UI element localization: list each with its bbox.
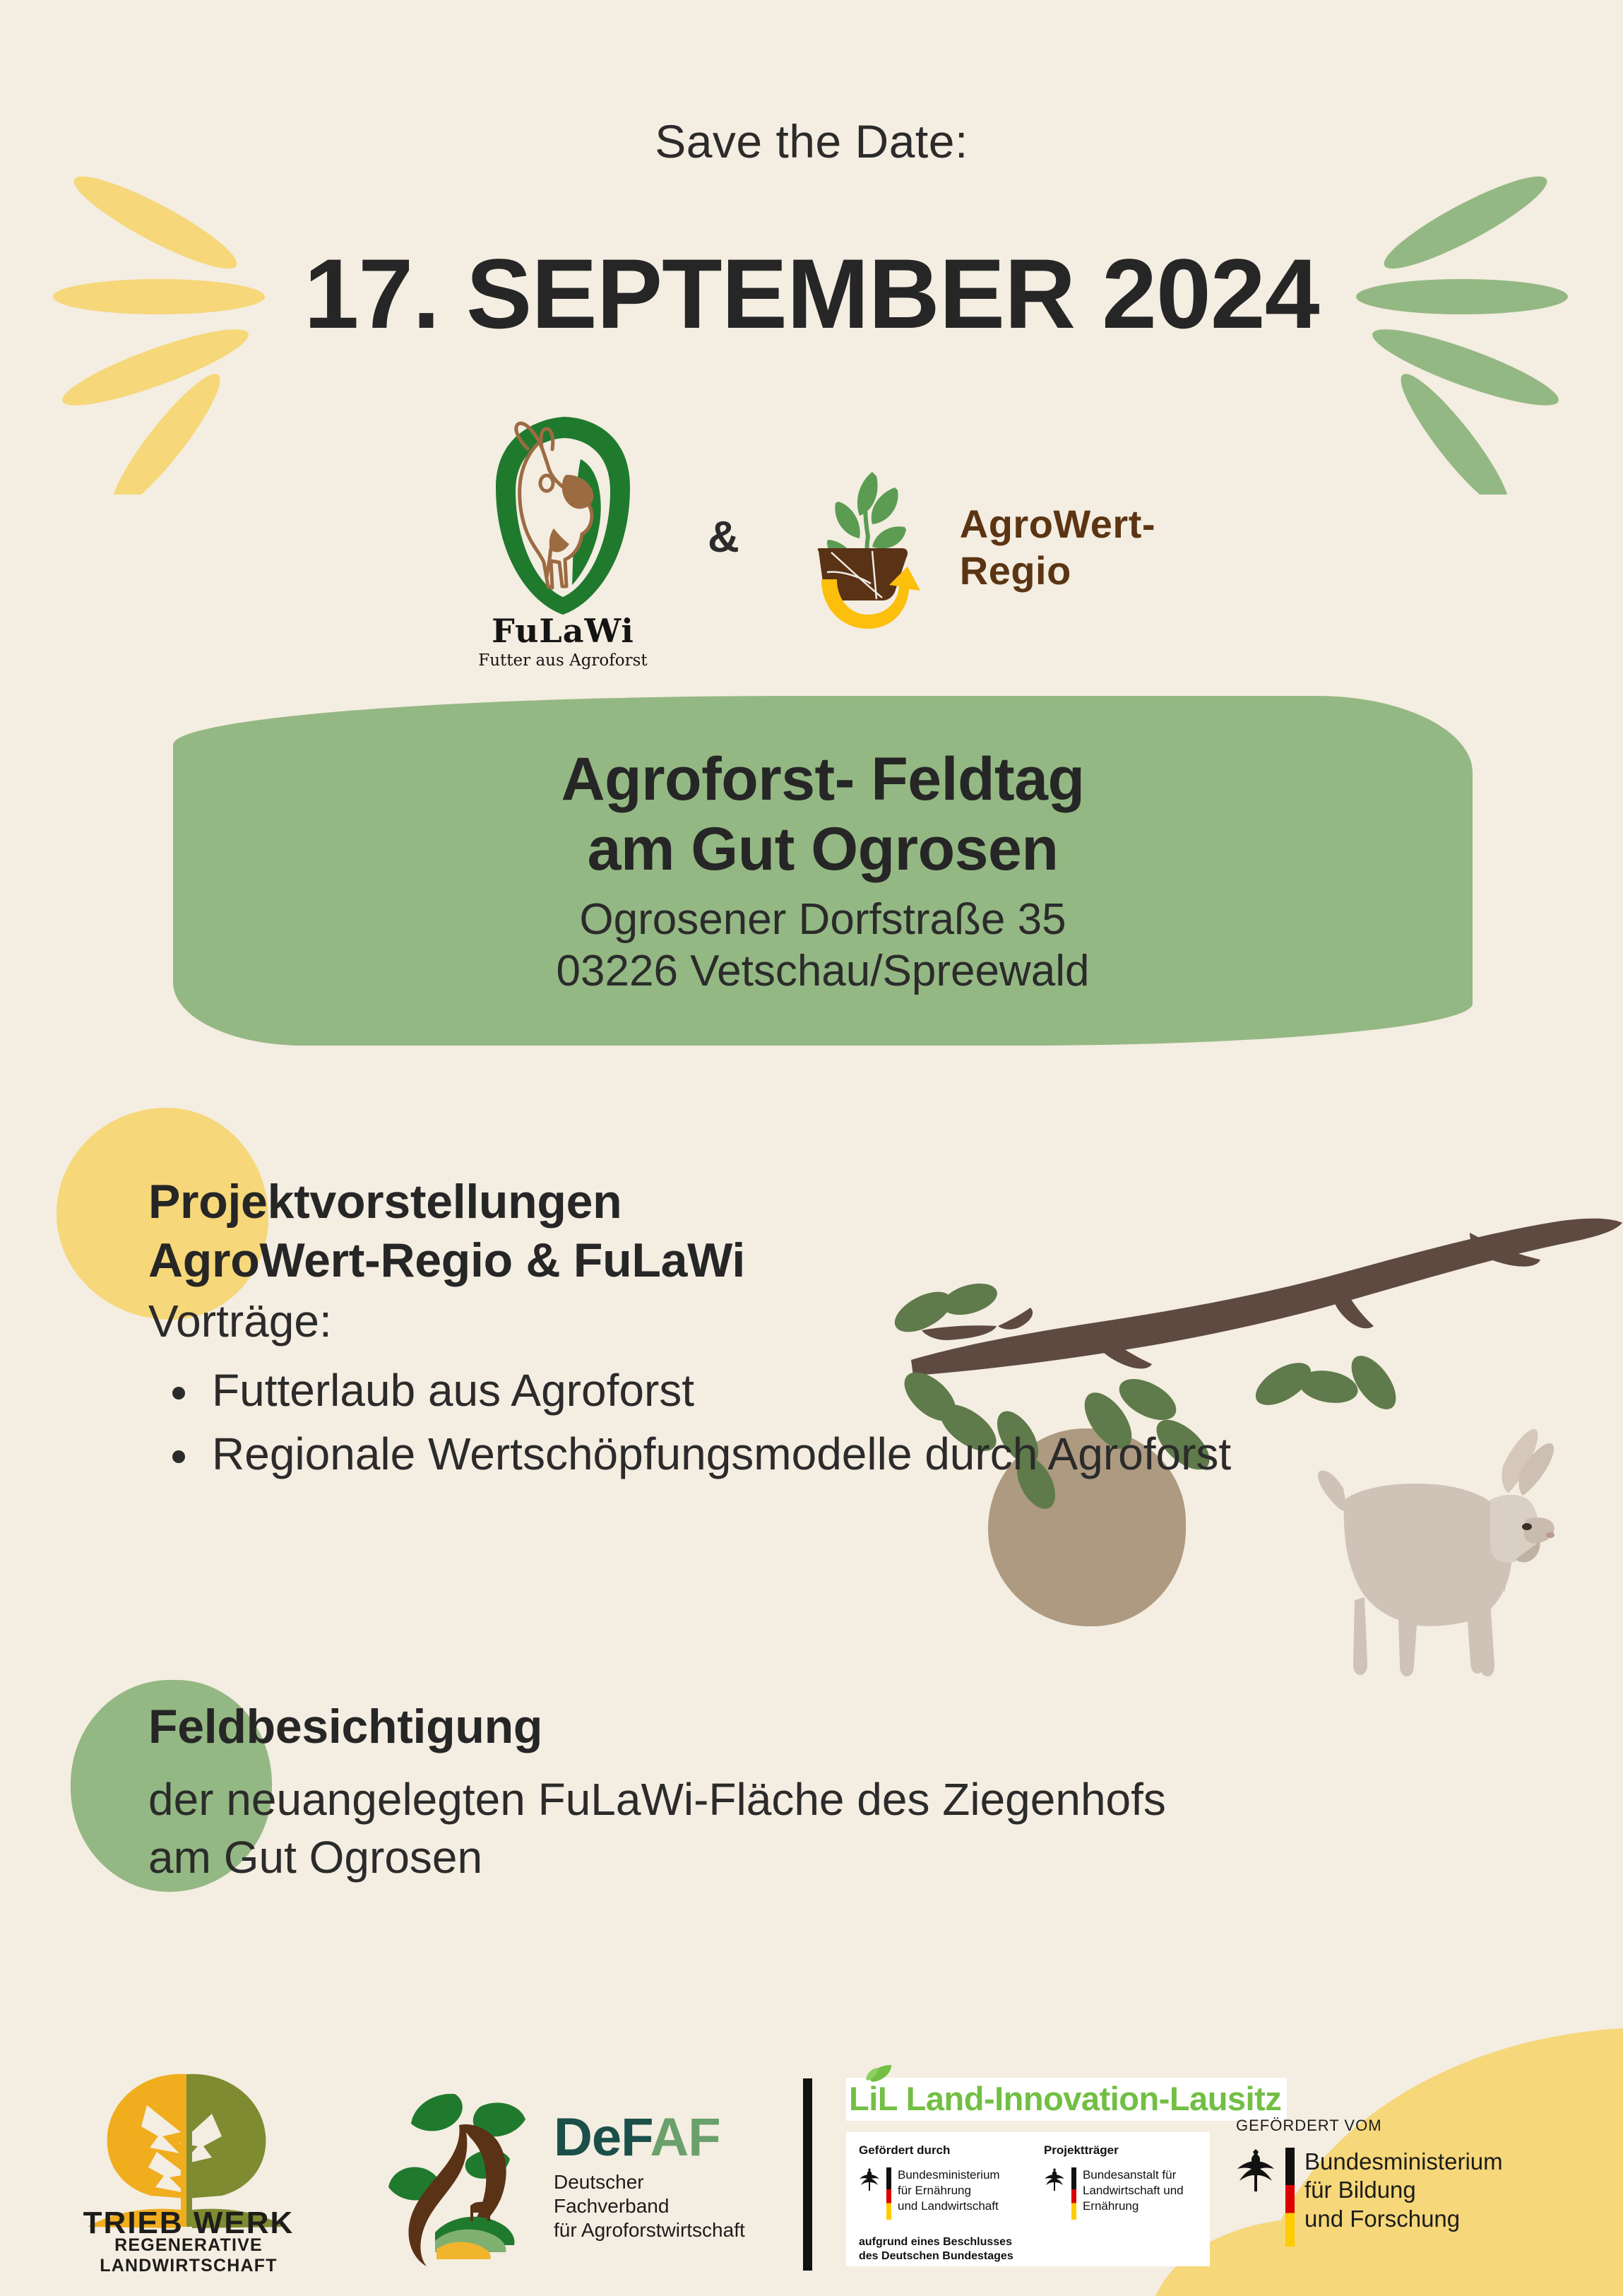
program-subheading: Vorträge:: [148, 1294, 1250, 1349]
seedling-shovel-logo-icon: [789, 459, 951, 636]
list-item: Futterlaub aus Agroforst: [148, 1363, 1250, 1418]
bmel-name-line-1: Bundesministerium: [898, 2167, 1000, 2183]
bmbf-label: GEFÖRDERT VOM: [1236, 2117, 1518, 2135]
address-line-1: Ogrosener Dorfstraße 35: [557, 894, 1090, 945]
bundestag-note-line-1: aufgrund eines Beschlusses: [859, 2235, 1025, 2249]
german-flag-bar: [1071, 2167, 1076, 2220]
ble-name-line-2: Landwirtschaft und Ernährung: [1083, 2183, 1197, 2214]
event-address: Ogrosener Dorfstraße 35 03226 Vetschau/S…: [557, 894, 1090, 997]
tree-cow-field-logo-icon: [381, 2081, 551, 2272]
fulawi-wordmark: FuLaWi: [492, 615, 634, 647]
funding-label-gefoerdert-durch: Gefördert durch: [859, 2143, 1025, 2158]
bmel-name-line-2: für Ernährung: [898, 2183, 1000, 2199]
list-item: Regionale Wertschöpfungsmodelle durch Ag…: [148, 1426, 1250, 1481]
defaf-acronym-light: AF: [650, 2107, 720, 2167]
federal-eagle-icon: [859, 2167, 880, 2191]
program-section: Projektvorstellungen AgroWert-Regio & Fu…: [148, 1173, 1250, 1490]
agrowert-line-2: Regio: [960, 548, 1155, 594]
defaf-text-block: DeFAF Deutscher Fachverband für Agrofors…: [554, 2111, 756, 2242]
field-visit-section: Feldbesichtigung der neuangelegten FuLaW…: [148, 1699, 1490, 1887]
bmel-name-line-3: und Landwirtschaft: [898, 2199, 1000, 2214]
funding-column-ble: Projektträger: [1044, 2143, 1197, 2255]
program-heading-line-1: Projektvorstellungen: [148, 1173, 1250, 1231]
bmbf-logo: GEFÖRDERT VOM Bundesministerium für Bild…: [1236, 2117, 1518, 2247]
field-visit-heading: Feldbesichtigung: [148, 1699, 1490, 1754]
triebwerk-logo: TRIEB WERK REGENERATIVE LANDWIRTSCHAFT: [58, 2069, 319, 2280]
bmel-name: Bundesministerium für Ernährung und Land…: [898, 2167, 1000, 2213]
funding-label-projekttraeger: Projektträger: [1044, 2143, 1197, 2158]
german-flag-bar: [1285, 2148, 1295, 2247]
program-bullet-list: Futterlaub aus Agroforst Regionale Werts…: [148, 1363, 1250, 1481]
federal-eagle-icon: [1044, 2167, 1065, 2191]
bmbf-row: Bundesministerium für Bildung und Forsch…: [1236, 2148, 1518, 2247]
ble-logo: Bundesanstalt für Landwirtschaft und Ern…: [1044, 2167, 1197, 2220]
program-heading: Projektvorstellungen AgroWert-Regio & Fu…: [148, 1173, 1250, 1290]
footer-logo-bar: TRIEB WERK REGENERATIVE LANDWIRTSCHAFT: [0, 2042, 1623, 2296]
defaf-subtitle-line-1: Deutscher Fachverband: [554, 2170, 756, 2218]
vertical-divider: [803, 2078, 812, 2271]
event-date: 17. SEPTEMBER 2024: [0, 237, 1623, 351]
defaf-wordmark: DeFAF: [554, 2111, 756, 2165]
bundestag-note-line-2: des Deutschen Bundestages: [859, 2249, 1025, 2264]
save-the-date-label: Save the Date:: [0, 114, 1623, 168]
bundestag-note: aufgrund eines Beschlusses des Deutschen…: [859, 2235, 1025, 2264]
partner-logo-row: FuLaWi Futter aus Agroforst &: [0, 406, 1623, 689]
ampersand-separator: &: [708, 512, 739, 562]
defaf-subtitle: Deutscher Fachverband für Agroforstwirts…: [554, 2170, 756, 2242]
field-visit-body: der neuangelegten FuLaWi-Fläche des Zieg…: [148, 1771, 1490, 1887]
agrowert-line-1: AgroWert-: [960, 501, 1155, 548]
program-heading-line-2: AgroWert-Regio & FuLaWi: [148, 1231, 1250, 1290]
field-visit-line-1: der neuangelegten FuLaWi-Fläche des Zieg…: [148, 1771, 1490, 1829]
federal-eagle-icon: [1236, 2148, 1276, 2193]
ble-name-line-1: Bundesanstalt für: [1083, 2167, 1197, 2183]
ble-name: Bundesanstalt für Landwirtschaft und Ern…: [1083, 2167, 1197, 2213]
bmbf-name-line-2: für Bildung: [1304, 2176, 1503, 2204]
agrowert-regio-logo: AgroWert- Regio: [789, 459, 1155, 636]
goat-illustration: [1278, 1388, 1561, 1741]
bmel-logo: Bundesministerium für Ernährung und Land…: [859, 2167, 1025, 2220]
leaf-sprout-icon: [864, 2064, 896, 2083]
agrowert-wordmark: AgroWert- Regio: [960, 501, 1155, 594]
funding-column-bmel: Gefördert durch: [859, 2143, 1025, 2255]
bmbf-name-line-3: und Forschung: [1304, 2205, 1503, 2233]
funding-logo-box: Gefördert durch: [846, 2132, 1210, 2266]
poster-root: Save the Date: 17. SEPTEMBER 2024: [0, 0, 1623, 2296]
triebwerk-tagline: REGENERATIVE LANDWIRTSCHAFT: [48, 2235, 329, 2276]
fulawi-logo: FuLaWi Futter aus Agroforst: [468, 410, 658, 685]
bmbf-name-line-1: Bundesministerium: [1304, 2148, 1503, 2176]
field-visit-line-2: am Gut Ogrosen: [148, 1829, 1490, 1887]
defaf-acronym-dark: DeF: [554, 2107, 650, 2167]
goat-leaf-logo-icon: [475, 410, 651, 615]
event-title: Agroforst- Feldtag am Gut Ogrosen: [561, 745, 1084, 886]
address-line-2: 03226 Vetschau/Spreewald: [557, 945, 1090, 997]
defaf-subtitle-line-2: für Agroforstwirtschaft: [554, 2218, 756, 2242]
event-banner-content: Agroforst- Feldtag am Gut Ogrosen Ogrose…: [173, 696, 1473, 1046]
german-flag-bar: [886, 2167, 891, 2220]
event-title-line-2: am Gut Ogrosen: [561, 815, 1084, 885]
lil-wordmark: LiL Land-Innovation-Lausitz: [846, 2078, 1287, 2121]
fulawi-tagline: Futter aus Agroforst: [478, 651, 647, 670]
bmbf-name: Bundesministerium für Bildung und Forsch…: [1304, 2148, 1503, 2233]
event-title-line-1: Agroforst- Feldtag: [561, 745, 1084, 815]
defaf-logo: DeFAF Deutscher Fachverband für Agrofors…: [381, 2074, 756, 2279]
